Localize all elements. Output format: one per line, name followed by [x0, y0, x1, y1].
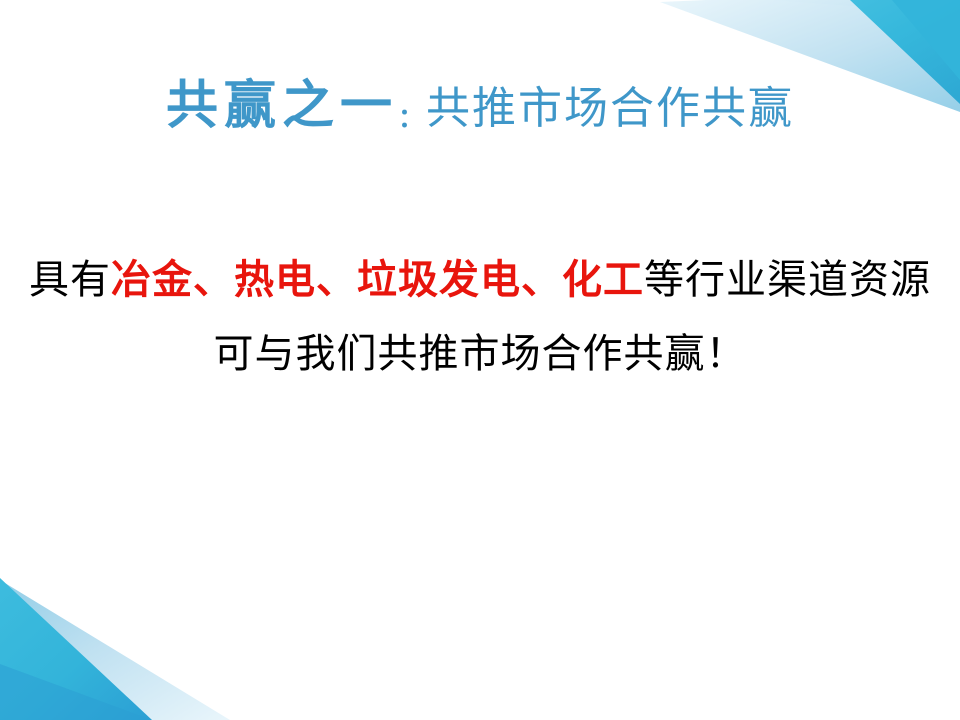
title-separator: ： — [398, 103, 426, 133]
ribbon-wedge-deep — [0, 664, 152, 720]
slide-canvas: 共赢之一：共推市场合作共赢 具有冶金、热电、垃圾发电、化工等行业渠道资源 可与我… — [0, 0, 960, 720]
ribbon-wedge-cyan — [0, 578, 152, 720]
ribbon-wedge-pale — [0, 580, 230, 720]
body-line-2: 可与我们共推市场合作共赢！ — [0, 317, 960, 391]
body-segment-industries: 冶金、热电、垃圾发电、化工 — [111, 258, 644, 302]
slide-body: 具有冶金、热电、垃圾发电、化工等行业渠道资源 可与我们共推市场合作共赢！ — [0, 243, 960, 391]
slide-title: 共赢之一：共推市场合作共赢 — [0, 63, 960, 138]
title-main-text: 共赢之一 — [166, 75, 398, 136]
ribbon-bottom-left-svg — [0, 560, 300, 720]
body-segment-plain-lead: 具有 — [29, 258, 111, 302]
ribbon-wedge-faint — [690, 0, 960, 14]
body-line-1: 具有冶金、热电、垃圾发电、化工等行业渠道资源 — [0, 243, 960, 317]
title-subtitle-text: 共推市场合作共赢 — [426, 83, 794, 134]
body-segment-plain-tail: 等行业渠道资源 — [644, 258, 931, 302]
diagonal-ribbon-bottom-left — [0, 560, 300, 720]
